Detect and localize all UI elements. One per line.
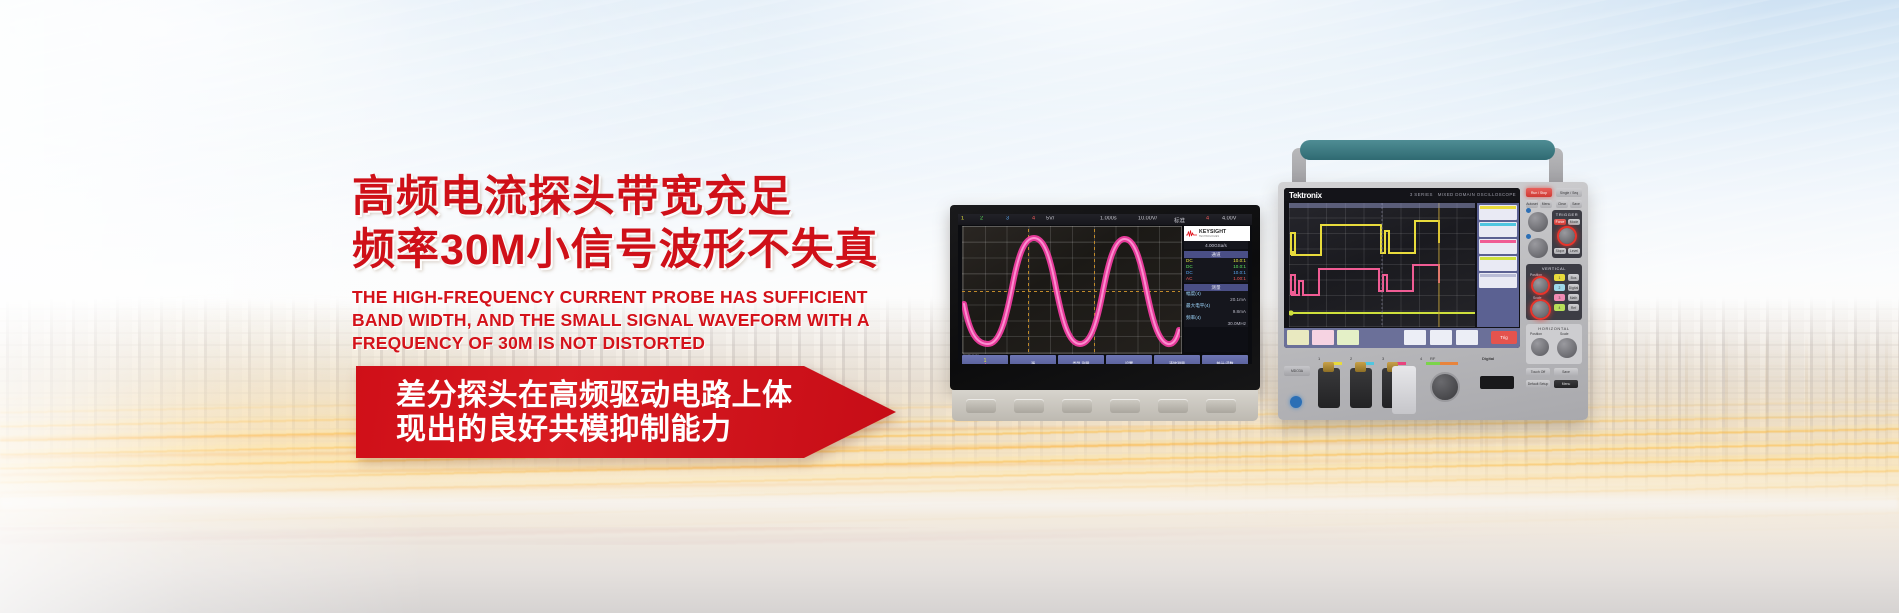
tek-trig-slope-button[interactable]: Slope xyxy=(1554,248,1566,254)
tek-side-card-2[interactable] xyxy=(1479,222,1517,237)
tek-bnc-connector-2[interactable] xyxy=(1350,368,1372,408)
tek-vertical-section: VERTICAL Position Scale 1 Bus 2 Digital … xyxy=(1526,264,1582,320)
tek-single-seq-button[interactable]: Single / Seq xyxy=(1556,188,1582,197)
ribbon-callout: 差分探头在高频驱动电路上体 现出的良好共模抑制能力 xyxy=(356,366,896,458)
keysight-acquire-rate: 4.00GSa/s xyxy=(1184,242,1248,249)
keysight-measure-title: 测量 xyxy=(1184,284,1248,291)
keysight-softkey-ch-pink: 4 xyxy=(984,364,987,365)
tek-side-menu[interactable] xyxy=(1477,203,1519,327)
ribbon-line-1: 差分探头在高频驱动电路上体 xyxy=(396,379,793,413)
tek-model-label: 3 SERIES MIXED DOMAIN OSCILLOSCOPE xyxy=(1410,192,1516,197)
tek-side-card-4[interactable] xyxy=(1479,256,1517,271)
tek-bnc-label-3: 3 xyxy=(1382,356,1384,361)
tek-side-card-1[interactable] xyxy=(1479,205,1517,220)
headline-line-2: 频率30M小信号波形不失真 xyxy=(352,225,952,275)
keysight-time-div: 1.000s xyxy=(1100,216,1117,222)
keysight-softkey-menu[interactable]: 1 4 源 类型 测量 设置 清除测量 统计/读数 xyxy=(962,355,1248,364)
tek-trig-mode-button[interactable]: Mode xyxy=(1568,219,1580,225)
tek-bottom-chip-ch4[interactable] xyxy=(1337,330,1359,345)
tek-trigger-level-ring xyxy=(1557,226,1577,246)
tek-run-stop-button[interactable]: Run / Stop xyxy=(1526,188,1552,197)
subtitle-english: THE HIGH-FREQUENCY CURRENT PROBE HAS SUF… xyxy=(352,286,912,355)
tek-control-cluster: Run / Stop Single / Seq Autoset Menu Cle… xyxy=(1526,188,1582,348)
tek-model-sub: MIXED DOMAIN OSCILLOSCOPE xyxy=(1438,192,1516,197)
tek-bnc-pin-1 xyxy=(1323,362,1334,372)
keysight-brand-tagline: TECHNOLOGIES xyxy=(1199,235,1226,238)
tek-ch1-marker xyxy=(1291,251,1296,256)
tek-multipurpose-knob-b[interactable] xyxy=(1528,238,1548,258)
tek-trigger-section: TRIGGER Force Mode Slope Level xyxy=(1552,210,1582,258)
keysight-waveform-sine xyxy=(962,226,1180,352)
tek-menu-button[interactable]: Menu xyxy=(1540,200,1552,208)
tek-force-trig-button[interactable]: Force xyxy=(1554,219,1566,225)
tek-rf-label: RF xyxy=(1430,356,1435,361)
keysight-screen: 1 2 3 4 5V/ 1.000s 10.00V/ 标准 4 4.00V xyxy=(958,214,1252,364)
keysight-ch4-coupling: AC xyxy=(1186,276,1192,282)
tek-bnc-label-4: 4 xyxy=(1420,356,1422,361)
tek-ch4-marker xyxy=(1289,310,1294,315)
keysight-front-button-1[interactable] xyxy=(966,399,996,413)
keysight-bezel: 1 2 3 4 5V/ 1.000s 10.00V/ 标准 4 4.00V xyxy=(950,205,1260,390)
keysight-trigger-level: 4.00V xyxy=(1222,216,1236,222)
tek-waveform-ch3 xyxy=(1291,265,1439,295)
keysight-meas-amplitude-value: 20.1mA xyxy=(1230,297,1246,303)
tek-bnc-pin-2 xyxy=(1355,362,1366,372)
oscilloscope-keysight: 1 2 3 4 5V/ 1.000s 10.00V/ 标准 4 4.00V xyxy=(950,205,1260,425)
tek-bottom-chip-meas[interactable] xyxy=(1456,330,1478,345)
tek-clear-button[interactable]: Clear xyxy=(1556,200,1568,208)
keysight-softkey-stats[interactable]: 统计/读数 xyxy=(1202,355,1248,364)
tek-math-button[interactable]: Math xyxy=(1568,294,1579,301)
tek-carry-handle[interactable] xyxy=(1300,140,1555,160)
keysight-meas-freq-value: 30.0MHz xyxy=(1228,321,1246,327)
keysight-trigger-channel: 4 xyxy=(1206,216,1209,222)
tek-bottom-chip-ch1[interactable] xyxy=(1287,330,1309,345)
tek-horizontal-scale-label: Scale xyxy=(1560,332,1568,336)
tek-trigger-section-label: TRIGGER xyxy=(1552,212,1582,217)
keysight-softkey-type[interactable]: 类型 测量 xyxy=(1058,355,1104,364)
keysight-meas-max-value: 9.8mA xyxy=(1233,309,1246,315)
keysight-front-button-5[interactable] xyxy=(1158,399,1188,413)
keysight-waveform-mark-icon xyxy=(1186,229,1197,238)
keysight-ch4-atten: 1.00:1 xyxy=(1233,276,1246,282)
tek-trig-level-button[interactable]: Level xyxy=(1568,248,1580,254)
keysight-ch4-indicator: 4 xyxy=(1032,216,1035,222)
tek-save-button[interactable]: Save xyxy=(1570,200,1582,208)
ribbon-line-2: 现出的良好共模抑制能力 xyxy=(396,413,793,447)
keysight-ch3-indicator: 3 xyxy=(1006,216,1009,222)
tek-power-button[interactable] xyxy=(1290,396,1302,408)
tek-side-card-1-color xyxy=(1480,206,1516,209)
tek-connector-row: MDO3A 1 2 3 4 RF Digital xyxy=(1284,354,1584,416)
keysight-channel-title: 通道 xyxy=(1184,251,1248,258)
tek-bottom-chip-horiz[interactable] xyxy=(1404,330,1426,345)
tek-mdo-badge: MDO3A xyxy=(1284,366,1310,376)
tek-bottom-chip-ch3[interactable] xyxy=(1312,330,1334,345)
tek-bnc-label-1: 1 xyxy=(1318,356,1320,361)
keysight-topbar: 1 2 3 4 5V/ 1.000s 10.00V/ 标准 4 4.00V xyxy=(958,214,1252,225)
tek-ref-button[interactable]: Ref xyxy=(1568,304,1579,311)
tek-channel-4-button[interactable]: 4 xyxy=(1554,304,1565,311)
tek-channel-1-button[interactable]: 1 xyxy=(1554,274,1565,281)
tek-side-card-5[interactable] xyxy=(1479,273,1517,288)
tek-bnc-connector-1[interactable] xyxy=(1318,368,1340,408)
keysight-front-panel xyxy=(952,390,1258,421)
tek-side-card-5-color xyxy=(1480,274,1516,277)
keysight-brand-name: KEYSIGHT xyxy=(1199,230,1226,235)
tek-model-series: 3 SERIES xyxy=(1410,192,1433,197)
tek-vertical-section-label: VERTICAL xyxy=(1526,266,1582,271)
tek-channel-2-button[interactable]: 2 xyxy=(1554,284,1565,291)
headline-block: 高频电流探头带宽充足 频率30M小信号波形不失真 THE HIGH-FREQUE… xyxy=(352,172,952,355)
tek-display-header: Tektronix 3 SERIES MIXED DOMAIN OSCILLOS… xyxy=(1284,188,1520,201)
tek-side-card-4-color xyxy=(1480,257,1516,260)
headline-line-1: 高频电流探头带宽充足 xyxy=(352,172,952,222)
keysight-meas-max-label: 最大电平(4) xyxy=(1186,303,1210,309)
keysight-softkey-setup[interactable]: 设置 xyxy=(1106,355,1152,364)
keysight-logo-text: KEYSIGHT TECHNOLOGIES xyxy=(1199,230,1226,238)
tek-ch3-marker xyxy=(1291,291,1296,296)
ribbon-text: 差分探头在高频驱动电路上体 现出的良好共模抑制能力 xyxy=(396,379,793,447)
tek-multipurpose-knob-a[interactable] xyxy=(1528,212,1548,232)
tek-bottom-menu[interactable]: Trig xyxy=(1284,328,1520,348)
tek-horizontal-section-label: HORIZONTAL xyxy=(1526,326,1582,331)
tek-waveform-ch1 xyxy=(1291,221,1439,255)
tek-rf-colorbar xyxy=(1440,362,1458,365)
tek-side-card-3[interactable] xyxy=(1479,239,1517,254)
keysight-softkey-source[interactable]: 源 xyxy=(1010,355,1056,364)
keysight-measure-panel[interactable]: 测量 幅度(4) 20.1mA 最大电平(4) 9.8mA 频率(4) 30.0… xyxy=(1184,284,1248,327)
tek-autoset-button[interactable]: Autoset xyxy=(1526,200,1538,208)
oscilloscope-tektronix: Tektronix 3 SERIES MIXED DOMAIN OSCILLOS… xyxy=(1250,140,1605,430)
tek-digital-port-label: Digital xyxy=(1482,356,1494,361)
keysight-softkey-channel[interactable]: 1 4 xyxy=(962,355,1008,364)
keysight-meas-freq-label: 频率(4) xyxy=(1186,315,1201,321)
tek-channel-3-button[interactable]: 3 xyxy=(1554,294,1565,301)
tek-bottom-chip-acq[interactable] xyxy=(1430,330,1452,345)
keysight-volts-div: 5V/ xyxy=(1046,216,1054,222)
tek-display[interactable]: Tektronix 3 SERIES MIXED DOMAIN OSCILLOS… xyxy=(1284,188,1520,348)
tek-knob-b-led xyxy=(1526,234,1531,239)
promo-banner: 高频电流探头带宽充足 频率30M小信号波形不失真 THE HIGH-FREQUE… xyxy=(0,0,1899,613)
keysight-front-button-4[interactable] xyxy=(1110,399,1140,413)
keysight-front-button-3[interactable] xyxy=(1062,399,1092,413)
tek-vertical-position-ring xyxy=(1531,276,1550,295)
keysight-ch2-indicator: 2 xyxy=(980,216,983,222)
tek-bnc-label-2: 2 xyxy=(1350,356,1352,361)
keysight-meas-amplitude-label: 幅度(4) xyxy=(1186,291,1201,297)
tek-side-card-2-color xyxy=(1480,223,1516,226)
keysight-trigger-mode: 标准 xyxy=(1174,216,1185,224)
tek-overview-strip xyxy=(1289,203,1475,208)
tek-knob-a-led xyxy=(1526,208,1531,213)
tek-waveform-area xyxy=(1289,203,1475,327)
keysight-front-button-2[interactable] xyxy=(1014,399,1044,413)
tek-trigger-status-badge: Trig xyxy=(1491,331,1517,344)
tek-graticule xyxy=(1289,203,1475,327)
tek-vertical-scale-ring xyxy=(1530,299,1551,320)
tek-rf-connector[interactable] xyxy=(1430,372,1460,402)
keysight-sample-rate: 10.00V/ xyxy=(1138,216,1157,222)
keysight-channel-panel[interactable]: 通道 DC 10.0:1 DC 10.0:1 DC 10.0:1 xyxy=(1184,251,1248,282)
keysight-ch1-indicator: 1 xyxy=(961,216,964,222)
keysight-logo: KEYSIGHT TECHNOLOGIES xyxy=(1184,226,1250,241)
tek-bus-button[interactable]: Bus xyxy=(1568,274,1579,281)
tek-probe-attached[interactable] xyxy=(1392,366,1416,414)
keysight-softkey-clear[interactable]: 清除测量 xyxy=(1154,355,1200,364)
tek-brand-name: Tektronix xyxy=(1289,191,1322,200)
tek-chassis: Tektronix 3 SERIES MIXED DOMAIN OSCILLOS… xyxy=(1278,182,1588,420)
tek-digital-button[interactable]: Digital xyxy=(1568,284,1579,291)
keysight-front-button-6[interactable] xyxy=(1206,399,1236,413)
tek-side-card-3-color xyxy=(1480,240,1516,243)
tek-digital-port[interactable] xyxy=(1480,376,1514,389)
tek-horizontal-position-label: Position xyxy=(1530,332,1542,336)
keysight-side-panel: KEYSIGHT TECHNOLOGIES 采集 标准模式 4.00GSa/s … xyxy=(1184,226,1248,352)
